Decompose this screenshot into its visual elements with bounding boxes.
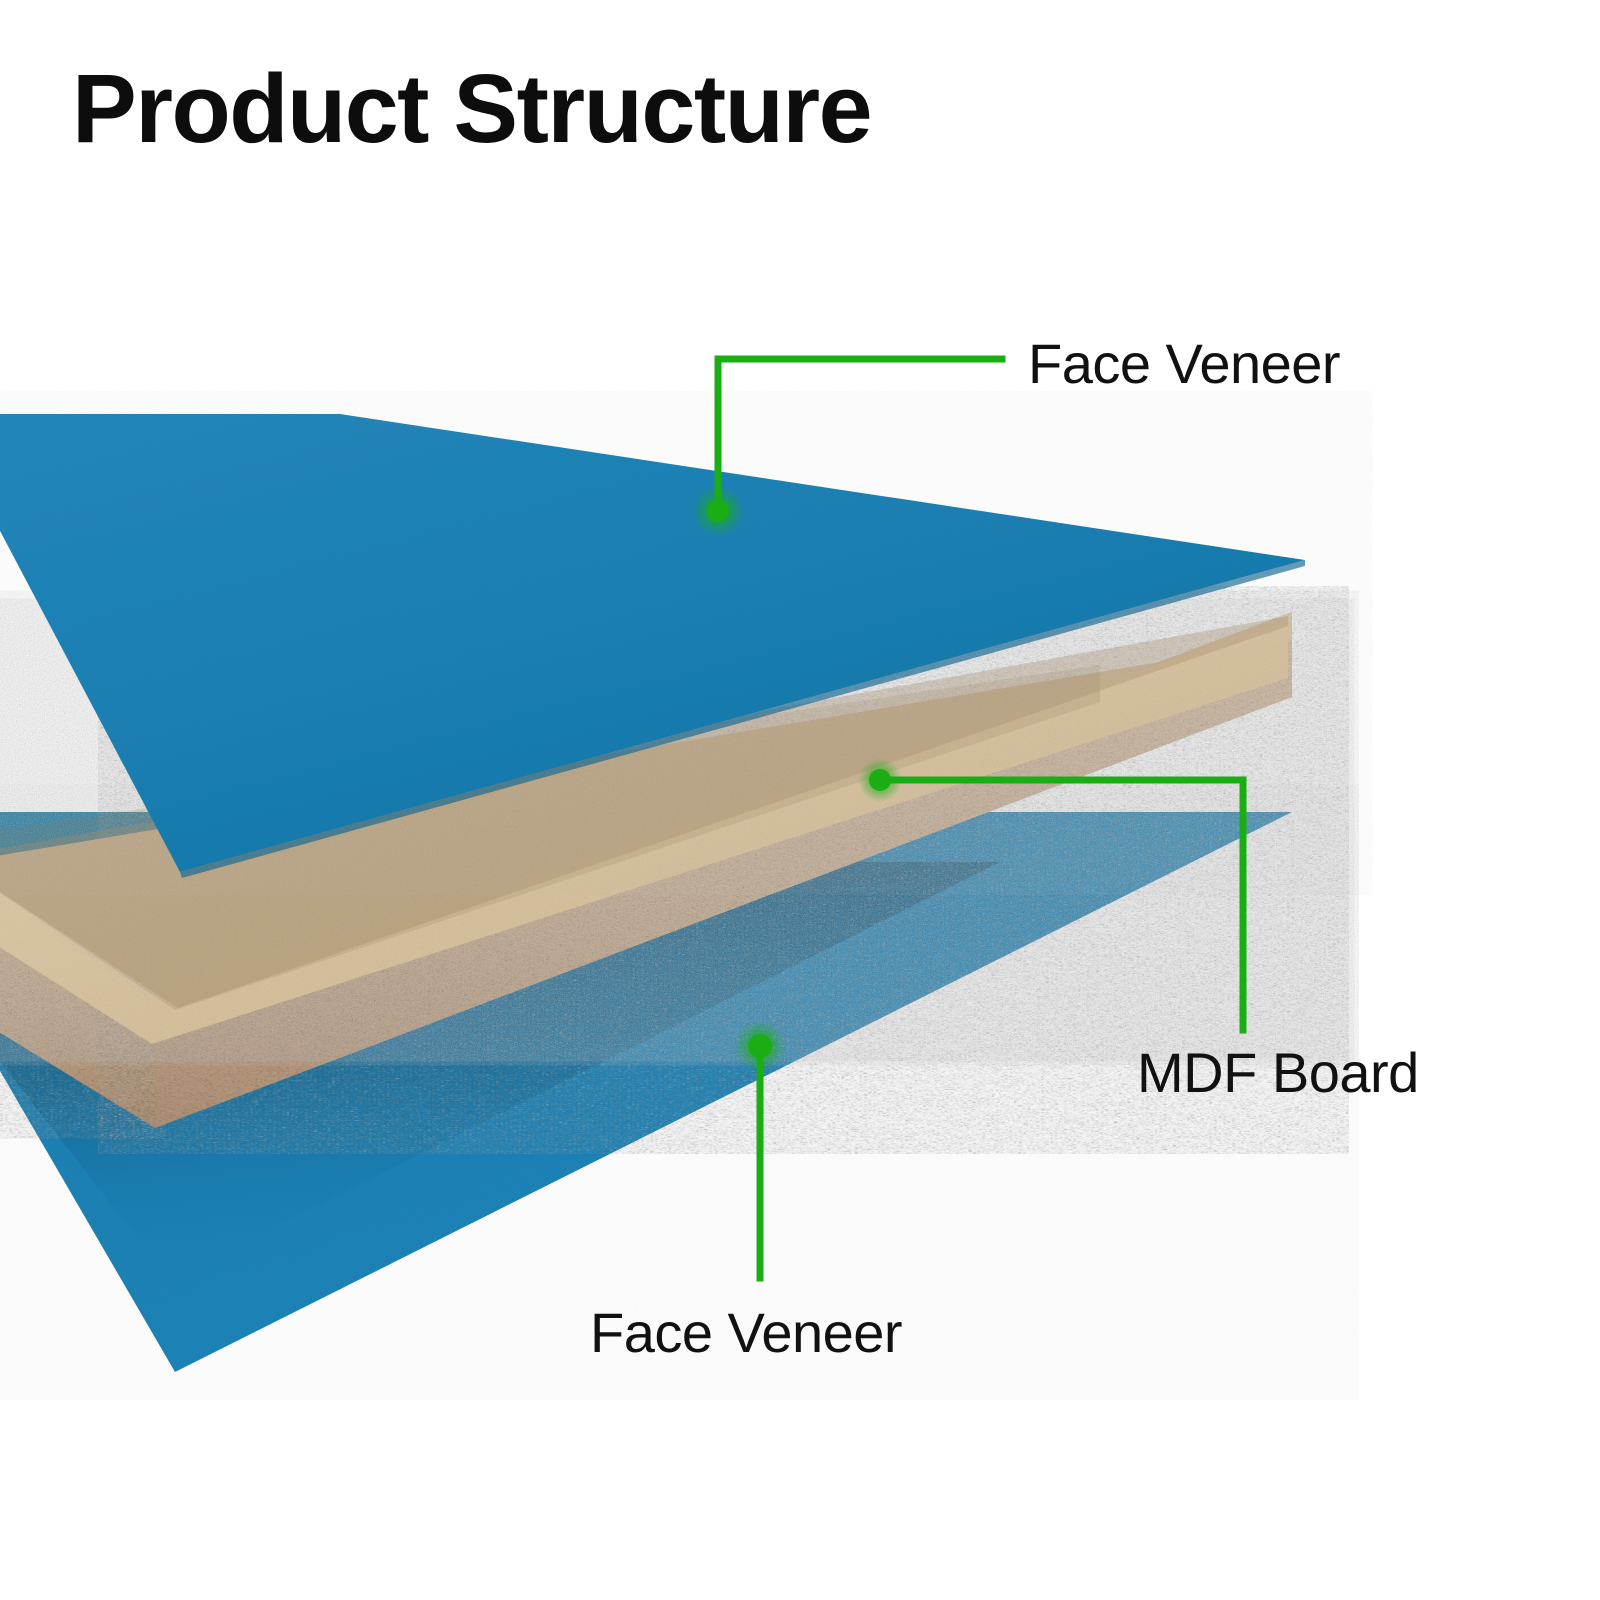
callout-marker-dot <box>748 1034 772 1058</box>
callout-label-face-veneer-bottom: Face Veneer <box>590 1305 902 1361</box>
callout-label-face-veneer-top: Face Veneer <box>1028 336 1340 392</box>
callout-marker-dot <box>707 500 729 522</box>
callout-face-veneer-bottom[interactable] <box>734 1020 786 1278</box>
product-structure-diagram-canvas: Product Structure <box>0 0 1600 1600</box>
callout-marker-dot <box>869 769 891 791</box>
callout-label-mdf-board: MDF Board <box>1137 1045 1419 1101</box>
